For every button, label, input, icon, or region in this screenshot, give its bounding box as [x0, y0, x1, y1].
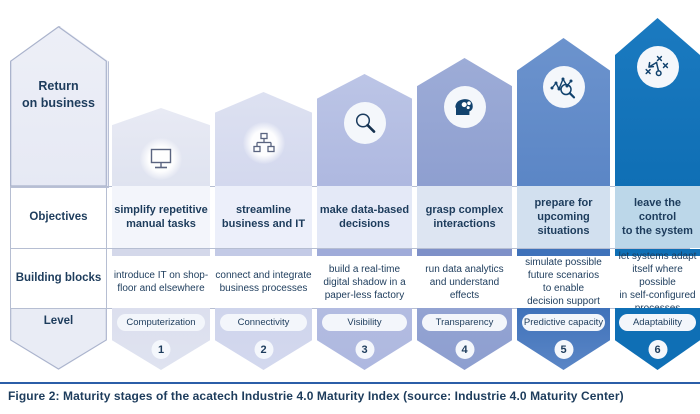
text-line: interactions — [417, 217, 512, 231]
level-pill-5: Predictive capacity — [522, 314, 606, 331]
text-line: run data analytics — [417, 263, 512, 276]
level-pill-2: Connectivity — [220, 314, 307, 331]
text-line: prepare for — [517, 196, 610, 210]
building-block-text: build a real-timedigital shadow in apape… — [317, 263, 412, 302]
analytics-icon — [550, 75, 578, 99]
text-line: leave the control — [615, 196, 700, 225]
text-line: introduce IT on shop- — [112, 269, 210, 282]
stage-icon-disc — [243, 122, 285, 164]
text-line: let systems adapt — [615, 250, 700, 263]
objective-text: streamlinebusiness and IT — [215, 203, 312, 232]
text-line: floor and elsewhere — [112, 282, 210, 295]
level-pill-6: Adaptability — [619, 314, 696, 331]
head-gears-icon — [452, 95, 478, 119]
building-block-cap — [317, 249, 412, 256]
maturity-index-figure: Returnon business — [0, 0, 700, 414]
building-block-cell-2: connect and integratebusiness processes — [215, 256, 312, 308]
text-line: decision support — [517, 295, 610, 308]
objective-text: prepare forupcoming situations — [517, 196, 610, 239]
text-line: paper-less factory — [317, 289, 412, 302]
building-block-cell-5: simulate possiblefuture scenariosto enab… — [517, 256, 610, 308]
objective-cell-2: streamlinebusiness and IT — [215, 186, 312, 248]
level-pill-3: Visibility — [322, 314, 408, 331]
text-line: decisions — [317, 217, 412, 231]
building-block-cap — [417, 249, 512, 256]
text-line: simulate possible — [517, 256, 610, 269]
building-block-text: introduce IT on shop-floor and elsewhere — [112, 269, 210, 295]
text-line: future scenarios — [517, 269, 610, 282]
strategy-icon — [644, 54, 672, 80]
objective-cell-4: grasp complexinteractions — [417, 186, 512, 248]
monitor-icon — [149, 148, 173, 170]
objective-text: make data-baseddecisions — [317, 203, 412, 232]
text-line: digital shadow in a — [317, 276, 412, 289]
text-line: upcoming situations — [517, 210, 610, 239]
level-number-1: 1 — [152, 340, 171, 359]
stage-icon-disc — [344, 102, 386, 144]
stage-bar-5[interactable] — [517, 38, 610, 186]
text-line: business and IT — [215, 217, 312, 231]
return-on-business-label: Returnon business — [10, 78, 107, 112]
objective-cell-6: leave the controlto the system — [615, 186, 700, 248]
stage-icon-disc — [637, 46, 679, 88]
level-number-2: 2 — [254, 340, 273, 359]
row-label-building-blocks: Building blocks — [10, 248, 107, 308]
objective-cell-3: make data-baseddecisions — [317, 186, 412, 248]
level-number-3: 3 — [355, 340, 374, 359]
level-number-6: 6 — [648, 340, 667, 359]
text-line: on business — [10, 95, 107, 112]
text-line: make data-based — [317, 203, 412, 217]
building-block-cap — [517, 249, 610, 256]
building-block-text: run data analyticsand understand effects — [417, 263, 512, 302]
text-line: simplify repetitive — [112, 203, 210, 217]
level-pill-4: Transparency — [422, 314, 508, 331]
network-icon — [252, 132, 276, 154]
text-line: connect and integrate — [215, 269, 312, 282]
stage-bar-6[interactable] — [615, 18, 700, 186]
stage-icon-disc — [140, 138, 182, 180]
text-line: manual tasks — [112, 217, 210, 231]
text-line: in self-configured — [615, 289, 700, 302]
level-number-5: 5 — [554, 340, 573, 359]
stage-icon-disc — [543, 66, 585, 108]
objective-text: grasp complexinteractions — [417, 203, 512, 232]
stage-icon-disc — [444, 86, 486, 128]
row-label-level: Level — [10, 308, 107, 334]
level-number-4: 4 — [455, 340, 474, 359]
building-block-text: connect and integratebusiness processes — [215, 269, 312, 295]
text-line: build a real-time — [317, 263, 412, 276]
building-block-cap — [112, 249, 210, 256]
magnifier-icon — [353, 111, 377, 135]
row-label-objectives: Objectives — [10, 186, 107, 248]
building-block-cap — [215, 249, 312, 256]
text-line: itself where possible — [615, 263, 700, 289]
text-line: grasp complex — [417, 203, 512, 217]
text-line: streamline — [215, 203, 312, 217]
building-block-cell-1: introduce IT on shop-floor and elsewhere — [112, 256, 210, 308]
objective-text: leave the controlto the system — [615, 196, 700, 239]
objective-cell-5: prepare forupcoming situations — [517, 186, 610, 248]
building-block-cell-6: let systems adaptitself where possiblein… — [615, 256, 700, 308]
text-line: to enable — [517, 282, 610, 295]
building-block-cell-3: build a real-timedigital shadow in apape… — [317, 256, 412, 308]
text-line: to the system — [615, 224, 700, 238]
objective-text: simplify repetitivemanual tasks — [112, 203, 210, 232]
text-line: Return — [10, 78, 107, 95]
objective-cell-1: simplify repetitivemanual tasks — [112, 186, 210, 248]
building-block-cell-4: run data analyticsand understand effects — [417, 256, 512, 308]
figure-caption: Figure 2: Maturity stages of the acatech… — [8, 389, 692, 403]
building-block-text: let systems adaptitself where possiblein… — [615, 250, 700, 315]
text-line: business processes — [215, 282, 312, 295]
level-pill-1: Computerization — [117, 314, 205, 331]
building-block-text: simulate possiblefuture scenariosto enab… — [517, 256, 610, 308]
text-line: and understand effects — [417, 276, 512, 302]
caption-rule — [0, 382, 700, 384]
